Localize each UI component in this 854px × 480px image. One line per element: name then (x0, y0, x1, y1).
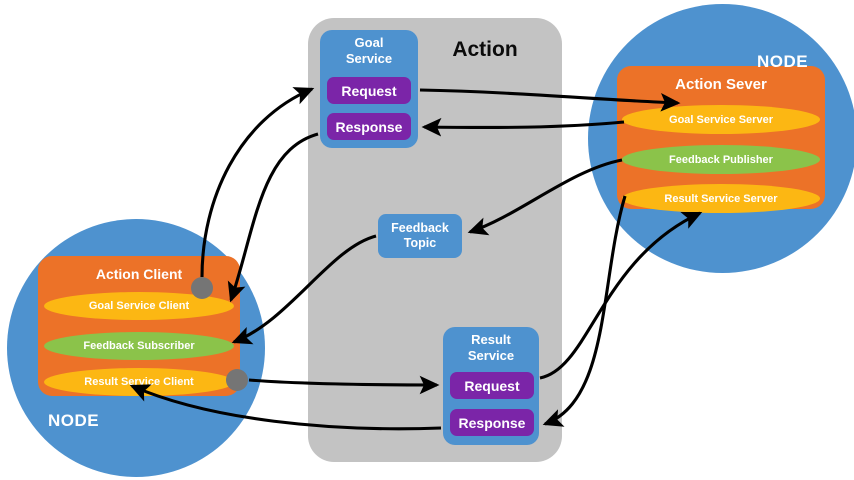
goal-service-response[interactable]: Response (327, 113, 411, 140)
feedback-publisher-pill[interactable]: Feedback Publisher (622, 145, 820, 174)
feedback-subscriber-pill[interactable]: Feedback Subscriber (44, 332, 234, 360)
server-node-label: NODE (757, 52, 808, 72)
result-service-title-line1: Result (471, 332, 511, 347)
result-service-client-pill[interactable]: Result Service Client (44, 368, 234, 396)
client-node-label: NODE (48, 411, 99, 431)
result-service-box: Result Service Request Response (443, 327, 539, 445)
goal-service-title-line1: Goal (355, 35, 384, 50)
goal-client-connector-dot (191, 277, 213, 299)
feedback-topic-line2: Topic (404, 236, 436, 250)
feedback-topic-line1: Feedback (391, 221, 449, 235)
diagram-canvas: Action NODE Action Client Goal Service C… (0, 0, 854, 480)
feedback-topic-box[interactable]: Feedback Topic (378, 214, 462, 258)
result-service-title: Result Service (443, 332, 539, 365)
goal-service-title-line2: Service (346, 51, 392, 66)
action-server-box: Action Sever Goal Service Server Feedbac… (617, 66, 825, 209)
goal-service-server-pill[interactable]: Goal Service Server (622, 105, 820, 134)
arrow-response-to-goal-client (231, 134, 318, 300)
action-group-label: Action (430, 38, 540, 62)
goal-service-request[interactable]: Request (327, 77, 411, 104)
action-server-title: Action Sever (617, 76, 825, 93)
result-service-response[interactable]: Response (450, 409, 534, 436)
action-client-box: Action Client Goal Service Client Feedba… (38, 256, 240, 396)
feedback-topic-label: Feedback Topic (391, 221, 449, 252)
result-service-title-line2: Service (468, 348, 514, 363)
result-service-request[interactable]: Request (450, 372, 534, 399)
result-client-connector-dot (226, 369, 248, 391)
result-service-server-pill[interactable]: Result Service Server (622, 184, 820, 213)
goal-service-title: Goal Service (320, 35, 418, 68)
goal-service-box: Goal Service Request Response (320, 30, 418, 148)
